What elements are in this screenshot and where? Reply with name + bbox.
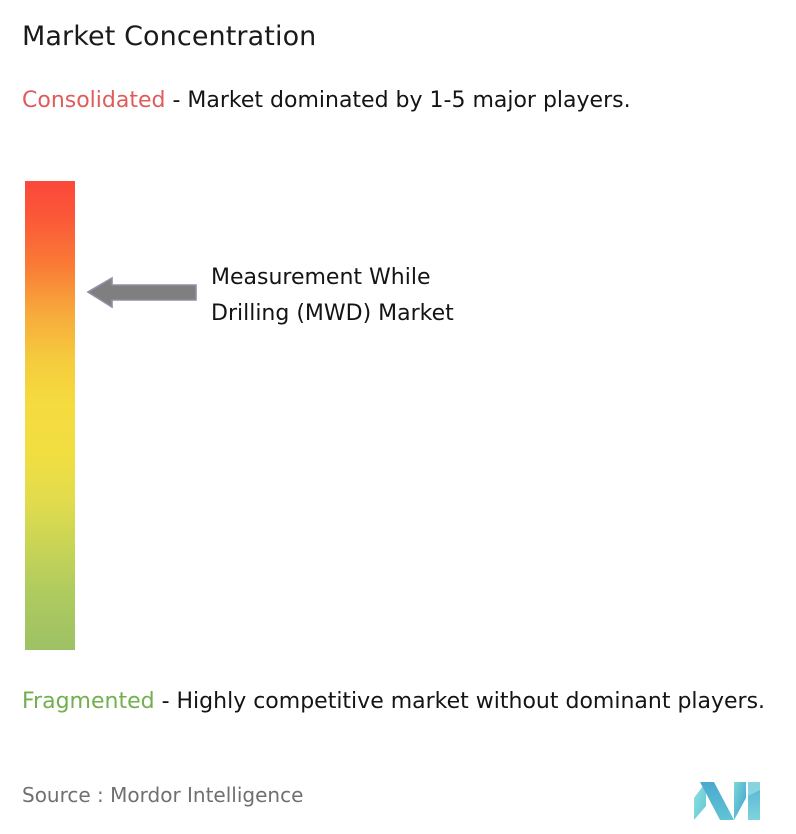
market-concentration-gradient-scale — [25, 181, 75, 650]
mordor-intelligence-logo — [694, 776, 766, 828]
marker-label-line-2: Drilling (MWD) Market — [211, 296, 631, 332]
marker-arrow-left-icon — [86, 270, 198, 314]
legend-consolidated-term: Consolidated — [22, 88, 165, 113]
marker-label: Measurement While Drilling (MWD) Market — [211, 260, 631, 332]
legend-fragmented: Fragmented - Highly competitive market w… — [22, 686, 782, 718]
legend-fragmented-description: - Highly competitive market without domi… — [155, 689, 765, 714]
marker-label-line-1: Measurement While — [211, 260, 631, 296]
page-title: Market Concentration — [22, 20, 316, 54]
legend-consolidated-description: - Market dominated by 1-5 major players. — [165, 88, 630, 113]
legend-fragmented-term: Fragmented — [22, 689, 155, 714]
source-attribution: Source : Mordor Intelligence — [22, 781, 303, 809]
footer: Source : Mordor Intelligence — [0, 776, 796, 834]
legend-consolidated: Consolidated - Market dominated by 1-5 m… — [22, 85, 762, 117]
